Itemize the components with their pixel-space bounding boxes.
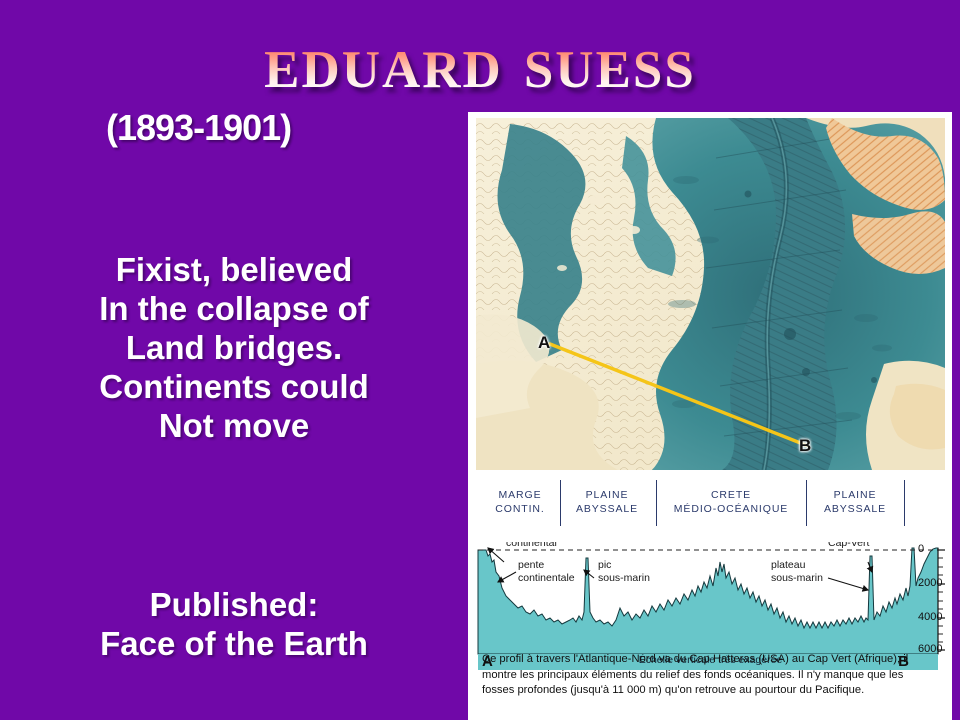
annotation-line: pic — [598, 559, 650, 572]
annotation-line: pente — [518, 559, 575, 572]
depth-tick-2000: 2000 — [918, 577, 942, 589]
zone-divider — [560, 480, 561, 526]
zone-crete-medio-oceanique: CRETE MÉDIO-OCÉANIQUE — [662, 488, 800, 516]
subtitle-dates: (1893-1901) — [106, 107, 291, 149]
zone-line: PLAINE — [564, 488, 650, 502]
annotation-pente-continentale: pente continentale — [518, 559, 575, 585]
published-text-block: Published: Face of the Earth — [0, 585, 468, 663]
page-title: Eduard Suess — [264, 22, 696, 102]
zone-marge-continentale: MARGE CONTIN. — [484, 488, 556, 516]
map-point-a-label: A — [538, 333, 550, 353]
zone-divider — [806, 480, 807, 526]
belief-text-block: Fixist, believed In the collapse of Land… — [0, 250, 468, 445]
zone-divider — [656, 480, 657, 526]
figure-caption: Ce profil à travers l'Atlantique-Nord va… — [482, 652, 934, 699]
zone-line: ABYSSALE — [812, 502, 898, 516]
belief-line: Fixist, believed — [0, 250, 468, 289]
map-graphic — [476, 118, 945, 470]
annotation-pic-sous-marin: pic sous-marin — [598, 559, 650, 585]
slide: Eduard Suess (1893-1901) Fixist, believe… — [0, 0, 960, 720]
zone-label-band: MARGE CONTIN. PLAINE ABYSSALE CRETE MÉDI… — [476, 478, 945, 542]
belief-line: Not move — [0, 406, 468, 445]
annotation-line: sous-marin — [598, 572, 650, 585]
annotation-line: continentale — [518, 572, 575, 585]
title-container: Eduard Suess — [0, 22, 960, 102]
zone-line: ABYSSALE — [564, 502, 650, 516]
depth-tick-0: 0 — [918, 543, 924, 555]
annotation-line: sous-marin — [771, 572, 823, 585]
zone-plaine-abyssale-east: PLAINE ABYSSALE — [812, 488, 898, 516]
annotation-plateau-continental: plateau continental — [506, 542, 557, 550]
zone-plaine-abyssale-west: PLAINE ABYSSALE — [564, 488, 650, 516]
belief-line: Continents could — [0, 367, 468, 406]
zone-line: MÉDIO-OCÉANIQUE — [662, 502, 800, 516]
zone-line: CRETE — [662, 488, 800, 502]
annotation-line: continental — [506, 542, 557, 550]
published-line: Published: — [0, 585, 468, 624]
belief-line: Land bridges. — [0, 328, 468, 367]
zone-line: CONTIN. — [484, 502, 556, 516]
depth-tick-4000: 4000 — [918, 611, 942, 623]
annotation-line: Cap-Vert — [828, 542, 869, 550]
zone-line: MARGE — [484, 488, 556, 502]
annotation-iles-du-cap-vert: Îles du Cap-Vert — [828, 542, 869, 550]
zone-divider — [904, 480, 905, 526]
published-line: Face of the Earth — [0, 624, 468, 663]
annotation-plateau-sous-marin: plateau sous-marin — [771, 559, 823, 585]
figure-panel: A B MARGE CONTIN. PLAINE ABYSSALE CRETE … — [468, 112, 952, 720]
bathymetric-map: A B — [476, 118, 945, 470]
belief-line: In the collapse of — [0, 289, 468, 328]
annotation-line: plateau — [771, 559, 823, 572]
map-point-b-label: B — [799, 436, 811, 456]
zone-line: PLAINE — [812, 488, 898, 502]
